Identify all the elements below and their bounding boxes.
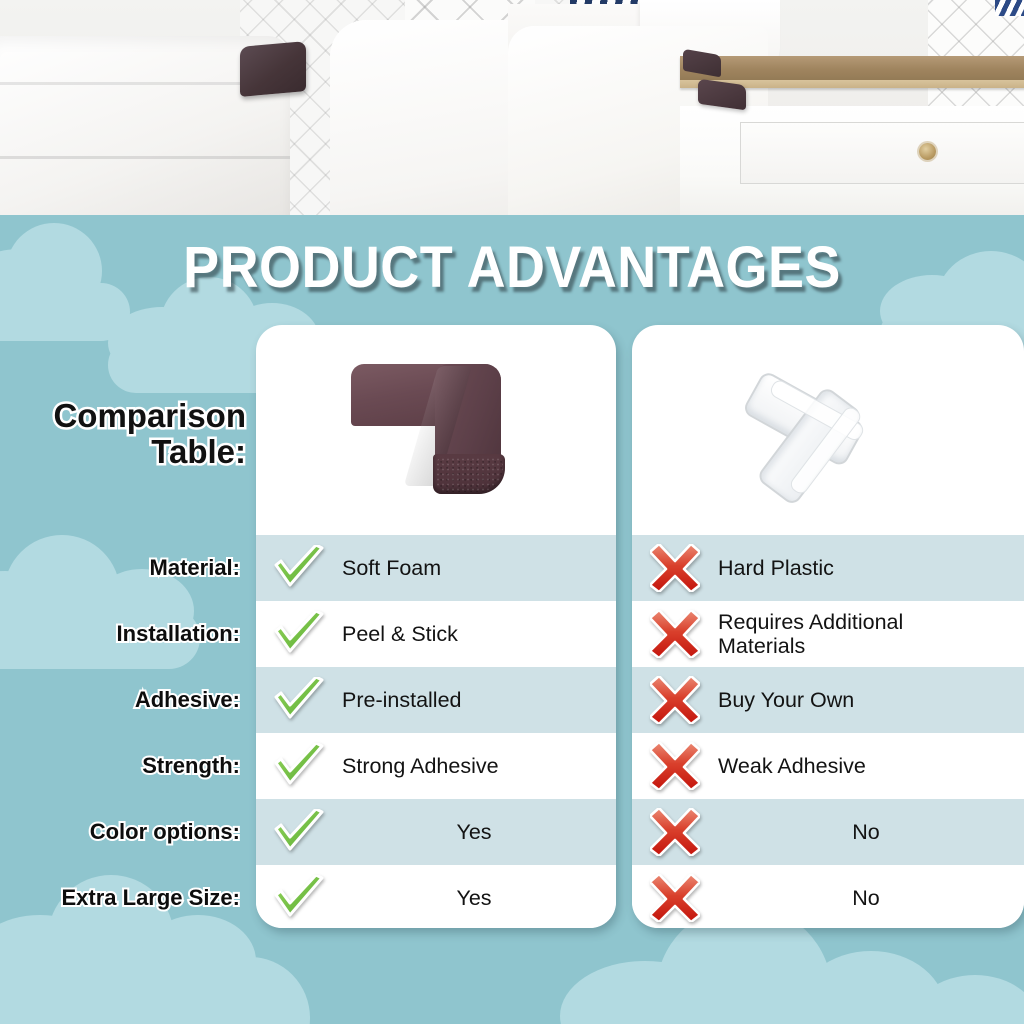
feature-value: Buy Your Own <box>718 688 1024 712</box>
product-card-other-product: Hard Plastic Requires Additional Materia… <box>632 325 1024 928</box>
table-row: No <box>632 865 1024 928</box>
check-icon <box>256 809 342 855</box>
attribute-label-extra-large: Extra Large Size: <box>0 865 240 931</box>
cross-icon <box>632 874 718 922</box>
lifestyle-photo <box>0 0 1024 215</box>
table-row: Hard Plastic <box>632 535 1024 601</box>
attribute-label-color-options: Color options: <box>0 799 240 865</box>
feature-value: Weak Adhesive <box>718 754 1024 778</box>
table-row: Yes <box>256 865 616 928</box>
striped-pillow-secondary <box>995 0 1024 16</box>
infographic-page: PRODUCT ADVANTAGES Comparison Table: Mat… <box>0 0 1024 1024</box>
table-row: No <box>632 799 1024 865</box>
attribute-label-adhesive: Adhesive: <box>0 667 240 733</box>
check-icon <box>256 743 342 789</box>
table-row: Soft Foam <box>256 535 616 601</box>
product-image-foam-corner-guard <box>256 325 616 535</box>
feature-value: No <box>718 886 1024 910</box>
product-card-our-product: Soft Foam Peel & Stick Pre-installed <box>256 325 616 928</box>
feature-value: Pre-installed <box>342 688 616 712</box>
table-row: Yes <box>256 799 616 865</box>
cross-icon <box>632 742 718 790</box>
feature-value: Yes <box>342 820 616 844</box>
feature-rows-our-product: Soft Foam Peel & Stick Pre-installed <box>256 535 616 928</box>
check-icon <box>256 611 342 657</box>
feature-value: Hard Plastic <box>718 556 1024 580</box>
feature-value: No <box>718 820 1024 844</box>
table-row: Weak Adhesive <box>632 733 1024 799</box>
product-image-clear-plastic-corner-guard <box>632 325 1024 535</box>
feature-value: Peel & Stick <box>342 622 616 646</box>
table-row: Buy Your Own <box>632 667 1024 733</box>
drawer-knob <box>919 143 936 160</box>
cross-icon <box>632 676 718 724</box>
feature-value: Strong Adhesive <box>342 754 616 778</box>
attribute-label-column: Material: Installation: Adhesive: Streng… <box>0 325 246 928</box>
table-drawer <box>740 122 1024 184</box>
table-row: Requires Additional Materials <box>632 601 1024 667</box>
cross-icon <box>632 544 718 592</box>
attribute-label-material: Material: <box>0 535 240 601</box>
table-row: Peel & Stick <box>256 601 616 667</box>
table-row: Pre-installed <box>256 667 616 733</box>
check-icon <box>256 875 342 921</box>
check-icon <box>256 677 342 723</box>
cross-icon <box>632 610 718 658</box>
cross-icon <box>632 808 718 856</box>
page-title: PRODUCT ADVANTAGES <box>36 234 988 301</box>
check-icon <box>256 545 342 591</box>
attribute-label-installation: Installation: <box>0 601 240 667</box>
feature-value: Soft Foam <box>342 556 616 580</box>
feature-rows-other-product: Hard Plastic Requires Additional Materia… <box>632 535 1024 928</box>
feature-value: Yes <box>342 886 616 910</box>
table-row: Strong Adhesive <box>256 733 616 799</box>
feature-value: Requires Additional Materials <box>718 610 978 658</box>
attribute-label-strength: Strength: <box>0 733 240 799</box>
corner-guard-on-sofa <box>240 41 306 97</box>
